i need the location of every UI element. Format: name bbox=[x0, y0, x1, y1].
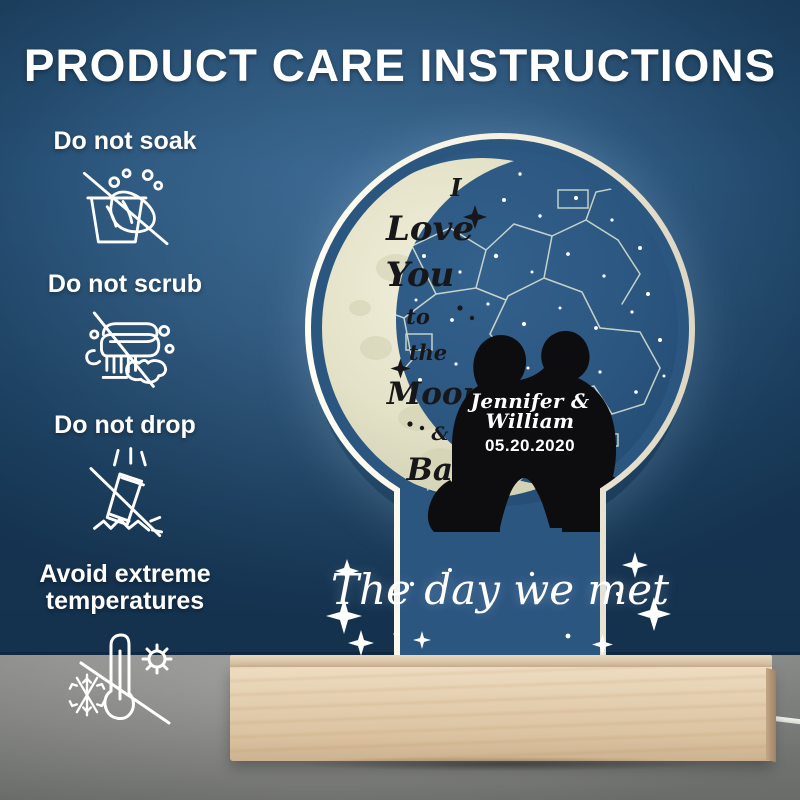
svg-text:to: to bbox=[406, 304, 430, 329]
no-drop-icon bbox=[71, 445, 180, 541]
care-label-avoid-extreme-temperatures: Avoid extreme temperatures bbox=[0, 561, 250, 615]
no-soak-icon bbox=[72, 161, 178, 249]
care-item-do-not-soak: Do not soak bbox=[0, 128, 250, 249]
page-title: PRODUCT CARE INSTRUCTIONS bbox=[0, 40, 800, 92]
care-label-do-not-soak: Do not soak bbox=[0, 128, 250, 155]
wooden-lamp-base bbox=[230, 655, 772, 761]
sparkle-decorations bbox=[300, 538, 700, 668]
care-item-avoid-extreme-temperatures: Avoid extreme temperatures bbox=[0, 561, 250, 729]
care-label-line-2: temperatures bbox=[0, 588, 250, 615]
care-instruction-list: Do not soak Do not scrub bbox=[0, 128, 250, 729]
svg-text:the: the bbox=[409, 340, 447, 365]
base-right-face bbox=[766, 668, 776, 762]
care-label-do-not-drop: Do not drop bbox=[0, 412, 250, 439]
svg-text:I: I bbox=[449, 173, 462, 202]
led-night-light-product: I Love You to the Moon & Back bbox=[300, 128, 700, 688]
care-item-do-not-drop: Do not drop bbox=[0, 412, 250, 541]
svg-text:Love: Love bbox=[385, 209, 474, 249]
base-drop-shadow bbox=[212, 755, 796, 773]
base-front-face bbox=[230, 667, 772, 761]
product-care-instructions-image: PRODUCT CARE INSTRUCTIONS Do not soak bbox=[0, 0, 800, 800]
svg-text:&: & bbox=[431, 423, 448, 445]
care-item-do-not-scrub: Do not scrub bbox=[0, 271, 250, 390]
care-label-line-1: Avoid extreme bbox=[0, 561, 250, 588]
care-label-do-not-scrub: Do not scrub bbox=[0, 271, 250, 298]
svg-text:You: You bbox=[386, 255, 455, 295]
no-scrub-icon bbox=[71, 304, 179, 390]
no-extreme-temperature-icon bbox=[65, 621, 185, 729]
